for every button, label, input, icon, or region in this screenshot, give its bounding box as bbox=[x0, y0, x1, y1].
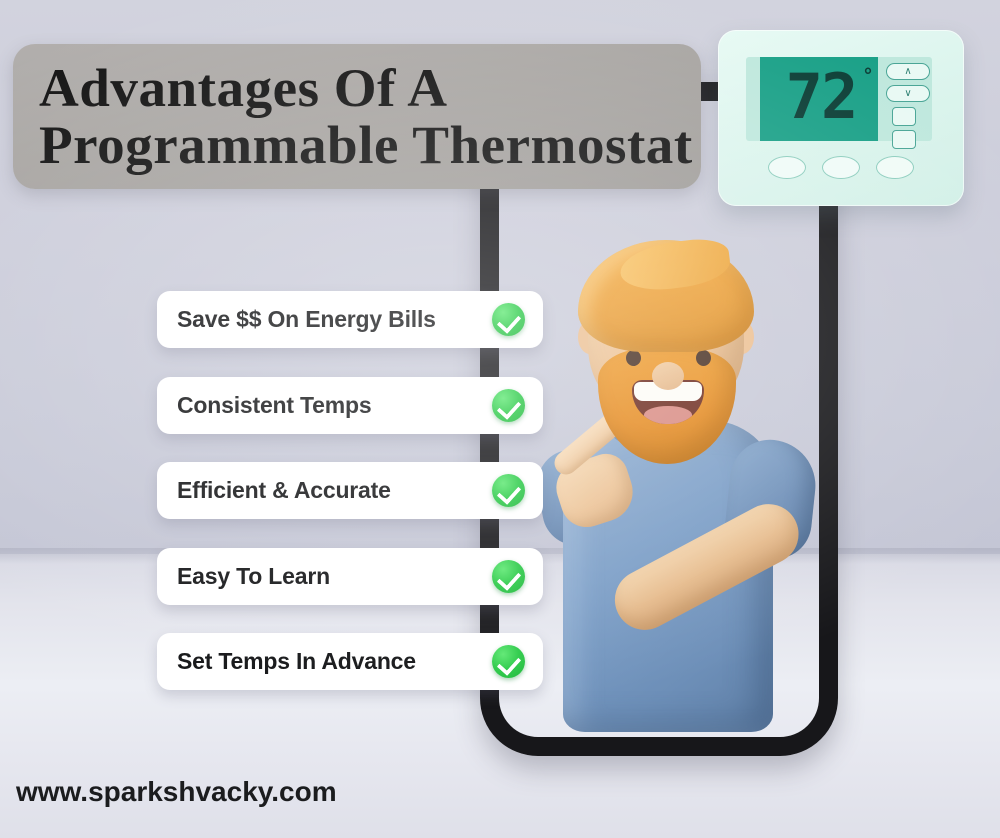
check-circle-icon bbox=[492, 560, 525, 593]
left-eye bbox=[626, 350, 641, 366]
infographic-poster: 72 ° ∧ ∨ Advantages Of A Programmable Th… bbox=[0, 0, 1000, 838]
temp-up-button[interactable]: ∧ bbox=[886, 63, 930, 80]
benefit-card[interactable]: Save $$ On Energy Bills bbox=[157, 291, 543, 348]
page-title-line-1: Advantages Of A bbox=[39, 60, 686, 116]
benefit-label: Set Temps In Advance bbox=[177, 648, 416, 675]
check-circle-icon bbox=[492, 474, 525, 507]
tongue bbox=[644, 406, 692, 424]
benefit-card[interactable]: Efficient & Accurate bbox=[157, 462, 543, 519]
benefit-label: Save $$ On Energy Bills bbox=[177, 306, 436, 333]
check-circle-icon bbox=[492, 645, 525, 678]
benefit-label: Easy To Learn bbox=[177, 563, 330, 590]
page-title-line-2: Programmable Thermostat bbox=[39, 117, 686, 173]
check-circle-icon bbox=[492, 389, 525, 422]
bearded-man-pointing-illustration bbox=[500, 222, 830, 732]
mode-button-1[interactable] bbox=[892, 107, 916, 126]
thermostat-button-column: ∧ ∨ bbox=[886, 63, 930, 137]
benefit-card[interactable]: Easy To Learn bbox=[157, 548, 543, 605]
temperature-reading: 72 bbox=[786, 66, 857, 128]
oval-button-3[interactable] bbox=[876, 156, 914, 179]
mode-button-2[interactable] bbox=[892, 130, 916, 149]
benefit-card[interactable]: Set Temps In Advance bbox=[157, 633, 543, 690]
benefit-card[interactable]: Consistent Temps bbox=[157, 377, 543, 434]
website-url[interactable]: www.sparkshvacky.com bbox=[16, 776, 337, 808]
right-eye bbox=[696, 350, 711, 366]
oval-button-2[interactable] bbox=[822, 156, 860, 179]
benefit-label: Consistent Temps bbox=[177, 392, 371, 419]
title-banner: Advantages Of A Programmable Thermostat bbox=[13, 44, 701, 189]
degree-symbol-icon: ° bbox=[864, 65, 872, 88]
benefit-label: Efficient & Accurate bbox=[177, 477, 391, 504]
temp-down-button[interactable]: ∨ bbox=[886, 85, 930, 102]
thermostat-panel: 72 ° ∧ ∨ bbox=[746, 57, 932, 141]
thermostat-oval-buttons bbox=[768, 156, 914, 179]
programmable-thermostat[interactable]: 72 ° ∧ ∨ bbox=[718, 30, 964, 206]
oval-button-1[interactable] bbox=[768, 156, 806, 179]
nose bbox=[652, 362, 684, 390]
check-circle-icon bbox=[492, 303, 525, 336]
thermostat-display: 72 ° bbox=[760, 57, 878, 141]
